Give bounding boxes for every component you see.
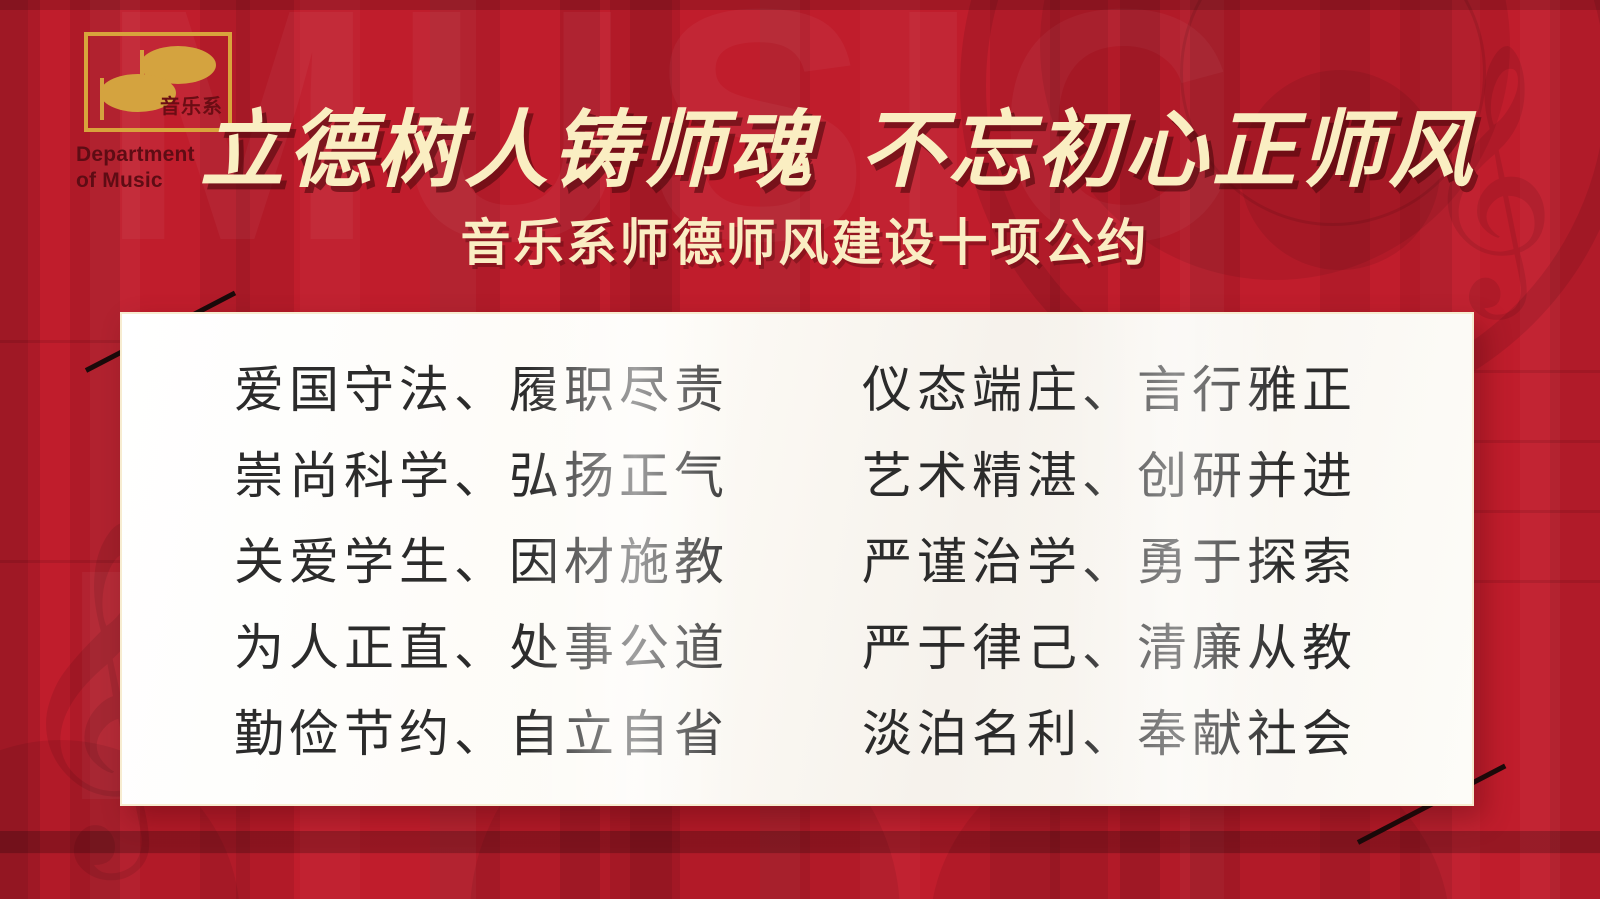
pledge-line: 严于律己、清廉从教 — [862, 605, 1438, 691]
background-staff-line — [1470, 370, 1600, 373]
pledge-line: 仪态端庄、言行雅正 — [862, 347, 1438, 433]
pledge-panel: 爱国守法、履职尽责 崇尚科学、弘扬正气 关爱学生、因材施教 为人正直、处事公道 … — [120, 312, 1474, 806]
note-stem-lower — [100, 78, 104, 120]
pledge-line: 崇尚科学、弘扬正气 — [234, 433, 810, 519]
headline-part-1: 立德树人铸师魂 — [200, 108, 816, 192]
pledge-line: 勤俭节约、自立自省 — [234, 691, 810, 777]
pledge-column-right: 仪态端庄、言行雅正 艺术精湛、创研并进 严谨治学、勇于探索 严于律己、清廉从教 … — [862, 347, 1438, 777]
pledge-grid: 爱国守法、履职尽责 崇尚科学、弘扬正气 关爱学生、因材施教 为人正直、处事公道 … — [122, 314, 1472, 804]
pledge-column-left: 爱国守法、履职尽责 崇尚科学、弘扬正气 关爱学生、因材施教 为人正直、处事公道 … — [234, 347, 810, 777]
pledge-line: 淡泊名利、奉献社会 — [862, 691, 1438, 777]
poster-canvas: MUSIC MUSIC 𝄞 𝄞 音乐系 Department of Music … — [0, 0, 1600, 899]
background-staff-line — [1470, 510, 1600, 513]
background-top-edge — [0, 0, 1600, 10]
pledge-line: 艺术精湛、创研并进 — [862, 433, 1438, 519]
pledge-line: 爱国守法、履职尽责 — [234, 347, 810, 433]
background-staff-line — [1470, 440, 1600, 443]
headline: 立德树人铸师魂不忘初心正师风 — [200, 108, 1410, 192]
pledge-line: 关爱学生、因材施教 — [234, 519, 810, 605]
pledge-line: 严谨治学、勇于探索 — [862, 519, 1438, 605]
background-staff-line — [1470, 580, 1600, 583]
background-staff-line — [0, 340, 120, 343]
pledge-line: 为人正直、处事公道 — [234, 605, 810, 691]
headline-part-2: 不忘初心正师风 — [860, 108, 1476, 192]
subtitle: 音乐系师德师风建设十项公约 — [200, 218, 1410, 268]
